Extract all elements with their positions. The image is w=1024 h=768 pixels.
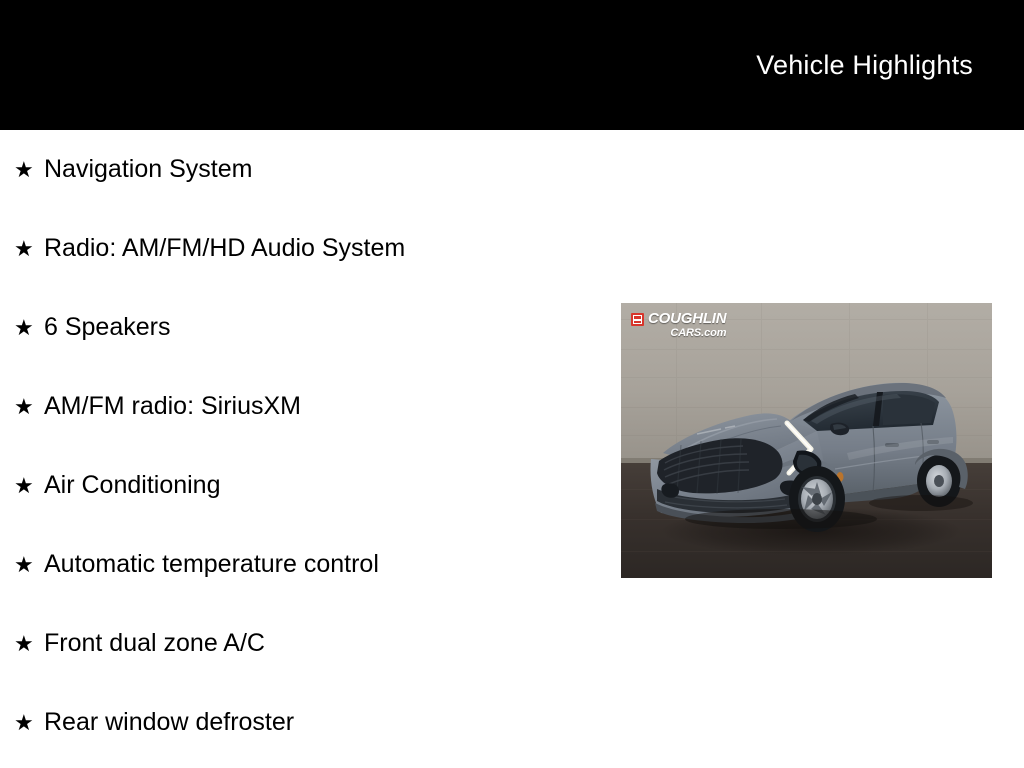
header-bar: Vehicle Highlights — [0, 0, 1024, 130]
list-item-label: Automatic temperature control — [44, 551, 379, 579]
list-item-label: AM/FM radio: SiriusXM — [44, 393, 301, 421]
list-item: ★ Rear window defroster — [0, 683, 620, 762]
list-item: ★ Automatic temperature control — [0, 525, 620, 604]
list-item-label: Radio: AM/FM/HD Audio System — [44, 235, 405, 263]
list-item-label: 6 Speakers — [44, 314, 170, 342]
list-item: ★ Air Conditioning — [0, 446, 620, 525]
page-title: Vehicle Highlights — [756, 50, 973, 81]
star-bullet-icon: ★ — [14, 475, 44, 497]
list-item-label: Air Conditioning — [44, 472, 221, 500]
list-item: ★ AM/FM radio: SiriusXM — [0, 367, 620, 446]
list-item-label: Front dual zone A/C — [44, 630, 265, 658]
star-bullet-icon: ★ — [14, 317, 44, 339]
list-item: ★ Navigation System — [0, 130, 620, 209]
star-bullet-icon: ★ — [14, 554, 44, 576]
vehicle-illustration — [621, 303, 992, 578]
list-item-label: Rear window defroster — [44, 709, 294, 737]
star-bullet-icon: ★ — [14, 712, 44, 734]
vehicle-photo: COUGHLIN CARS.com — [621, 303, 992, 578]
star-bullet-icon: ★ — [14, 238, 44, 260]
star-bullet-icon: ★ — [14, 159, 44, 181]
list-item: ★ Front dual zone A/C — [0, 604, 620, 683]
star-bullet-icon: ★ — [14, 396, 44, 418]
list-item: ★ Radio: AM/FM/HD Audio System — [0, 209, 620, 288]
vehicle-highlights-slide: Vehicle Highlights ★ Navigation System ★… — [0, 0, 1024, 768]
list-item-label: Navigation System — [44, 156, 252, 184]
star-bullet-icon: ★ — [14, 633, 44, 655]
list-item: ★ 6 Speakers — [0, 288, 620, 367]
highlights-list: ★ Navigation System ★ Radio: AM/FM/HD Au… — [0, 130, 620, 762]
